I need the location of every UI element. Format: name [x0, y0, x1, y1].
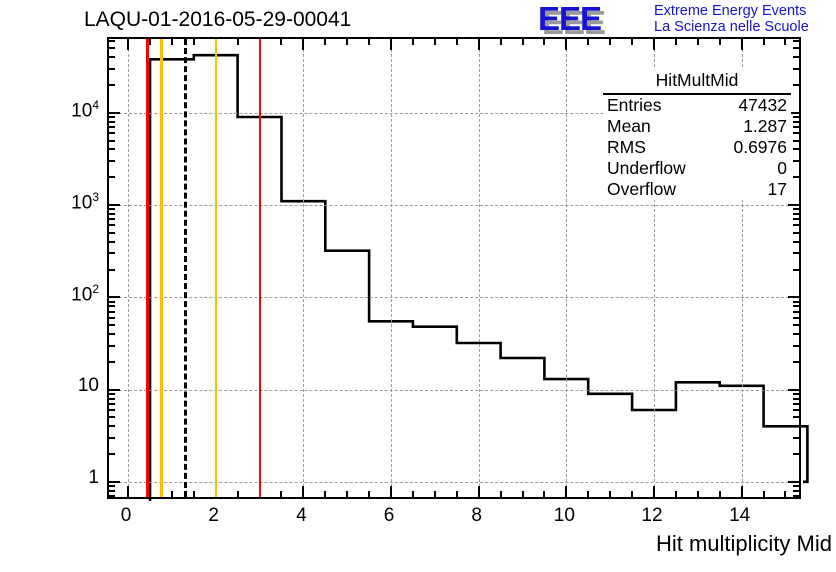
y-tick: [109, 416, 115, 418]
y-tick: [793, 84, 799, 86]
x-tick: [237, 39, 239, 45]
y-tick: [793, 495, 799, 497]
gridline-x-4: [303, 39, 304, 497]
y-tick: [109, 218, 115, 220]
y-tick: [109, 485, 115, 487]
y-tick: [109, 40, 115, 42]
y-tick: [109, 126, 115, 128]
y-axis-label-1000: 103: [71, 190, 99, 214]
y-tick: [793, 437, 799, 439]
x-axis-label-2: 2: [184, 505, 244, 527]
stats-rows: Entries47432Mean1.287RMS0.6976Underflow0…: [603, 95, 791, 200]
y-tick: [109, 311, 115, 313]
y-tick: [109, 495, 115, 497]
y-tick: [793, 416, 799, 418]
stats-row-entries: Entries47432: [603, 95, 791, 116]
y-tick: [793, 425, 799, 427]
x-tick: [522, 491, 524, 497]
y-tick: [109, 389, 120, 391]
gridline-y-1: [109, 482, 799, 483]
x-tick: [390, 39, 392, 50]
x-axis-label-14: 14: [710, 505, 770, 527]
y-tick: [109, 317, 115, 319]
stats-row-label: Entries: [607, 95, 669, 116]
x-axis-label-6: 6: [359, 505, 419, 527]
root-canvas: LAQU-01-2016-05-29-00041 EEE EEE Extreme…: [0, 0, 836, 572]
x-tick: [456, 491, 458, 497]
y-tick: [109, 68, 115, 70]
y-tick: [793, 241, 799, 243]
x-tick: [127, 39, 129, 50]
stats-row-label: RMS: [607, 137, 654, 158]
y-tick: [793, 160, 799, 162]
x-tick: [522, 39, 524, 45]
y-tick: [793, 333, 799, 335]
x-tick: [346, 39, 348, 45]
y-tick: [793, 148, 799, 150]
y-tick: [109, 333, 115, 335]
x-tick: [697, 39, 699, 45]
x-tick: [500, 39, 502, 45]
eee-logo-line2: La Scienza nelle Scuole: [654, 19, 809, 35]
x-tick: [565, 39, 567, 50]
x-tick: [565, 486, 567, 497]
y-tick: [109, 176, 115, 178]
x-axis-title: Hit multiplicity Mid: [656, 531, 832, 557]
y-tick: [793, 398, 799, 400]
stats-row-value: 0.6976: [733, 137, 787, 158]
y-tick: [793, 40, 799, 42]
gridline-x-6: [391, 39, 392, 497]
stats-row-overflow: Overflow17: [603, 179, 791, 200]
gridline-x-8: [479, 39, 480, 497]
y-tick: [788, 389, 799, 391]
gridline-y-100: [109, 297, 799, 298]
y-tick: [109, 269, 115, 271]
x-axis-label-10: 10: [534, 505, 594, 527]
x-tick: [763, 39, 765, 45]
y-tick: [109, 403, 115, 405]
x-tick: [719, 39, 721, 45]
y-tick: [793, 409, 799, 411]
y-tick: [109, 393, 115, 395]
y-tick: [793, 393, 799, 395]
stats-row-mean: Mean1.287: [603, 116, 791, 137]
y-tick: [109, 453, 115, 455]
x-axis-label-0: 0: [96, 505, 156, 527]
x-tick: [171, 491, 173, 497]
gridline-x-10: [566, 39, 567, 497]
y-tick: [109, 224, 115, 226]
x-tick: [675, 491, 677, 497]
x-tick: [675, 39, 677, 45]
stats-row-underflow: Underflow0: [603, 158, 791, 179]
y-tick: [109, 425, 115, 427]
marker-line-orange-left: [160, 39, 163, 497]
marker-line-red-right: [259, 39, 262, 497]
y-tick: [793, 453, 799, 455]
y-tick: [788, 481, 799, 483]
x-tick: [609, 39, 611, 45]
stats-row-label: Mean: [607, 116, 659, 137]
x-tick: [434, 39, 436, 45]
y-tick: [793, 485, 799, 487]
y-tick: [109, 398, 115, 400]
x-tick: [456, 39, 458, 45]
y-tick: [788, 204, 799, 206]
x-tick: [741, 486, 743, 497]
x-tick: [368, 39, 370, 45]
x-tick: [741, 39, 743, 50]
x-tick: [127, 486, 129, 497]
y-tick: [109, 437, 115, 439]
x-tick: [587, 491, 589, 497]
x-tick: [412, 491, 414, 497]
x-tick: [149, 39, 151, 45]
x-tick: [478, 39, 480, 50]
stats-row-value: 1.287: [743, 116, 787, 137]
x-tick: [500, 491, 502, 497]
x-axis-label-8: 8: [447, 505, 507, 527]
eee-logo-line1: Extreme Energy Events: [654, 3, 806, 19]
y-tick: [109, 296, 120, 298]
y-tick: [793, 403, 799, 405]
y-tick: [109, 160, 115, 162]
x-tick: [653, 486, 655, 497]
y-tick: [793, 213, 799, 215]
y-tick: [109, 241, 115, 243]
stats-title: HitMultMid: [603, 69, 791, 95]
y-tick: [793, 140, 799, 142]
y-tick: [109, 361, 115, 363]
x-tick: [237, 491, 239, 497]
x-tick: [368, 491, 370, 497]
x-tick: [784, 491, 786, 497]
x-tick: [697, 491, 699, 497]
x-tick: [324, 39, 326, 45]
x-tick: [149, 491, 151, 497]
marker-line-red-left: [146, 39, 149, 497]
x-tick: [478, 486, 480, 497]
x-tick: [280, 491, 282, 497]
eee-logo-mark-front: EEE: [538, 3, 601, 35]
y-tick: [109, 324, 115, 326]
y-tick: [793, 361, 799, 363]
marker-line-orange-right: [215, 39, 218, 497]
x-tick: [784, 39, 786, 45]
stats-row-value: 0: [777, 158, 787, 179]
y-tick: [793, 126, 799, 128]
x-tick: [763, 491, 765, 497]
y-tick: [793, 324, 799, 326]
x-tick: [609, 491, 611, 497]
x-tick: [302, 39, 304, 50]
y-tick: [793, 311, 799, 313]
y-tick: [109, 47, 115, 49]
y-tick: [109, 148, 115, 150]
y-tick: [109, 121, 115, 123]
y-tick: [793, 232, 799, 234]
y-tick: [109, 252, 115, 254]
stats-box: HitMultMid Entries47432Mean1.287RMS0.697…: [603, 69, 791, 200]
stats-row-value: 47432: [738, 95, 787, 116]
y-axis-label-100: 102: [71, 282, 99, 306]
x-tick: [719, 491, 721, 497]
gridline-y-1000: [109, 205, 799, 206]
y-tick: [793, 208, 799, 210]
x-axis-label-4: 4: [271, 505, 331, 527]
eee-logo-mark: EEE EEE: [538, 2, 648, 34]
y-tick: [793, 116, 799, 118]
y-tick: [793, 132, 799, 134]
marker-line-black-dashed-mean: [184, 39, 187, 497]
y-tick: [109, 409, 115, 411]
y-tick: [109, 301, 115, 303]
stats-row-rms: RMS0.6976: [603, 137, 791, 158]
y-tick: [788, 296, 799, 298]
x-tick: [302, 486, 304, 497]
x-tick: [390, 486, 392, 497]
x-tick: [324, 491, 326, 497]
x-tick: [193, 39, 195, 45]
y-tick: [793, 47, 799, 49]
y-tick: [109, 490, 115, 492]
x-tick: [280, 39, 282, 45]
gridline-x-0: [128, 39, 129, 497]
y-tick: [109, 116, 115, 118]
x-tick: [193, 491, 195, 497]
y-tick: [109, 213, 115, 215]
gridline-y-10: [109, 390, 799, 391]
y-tick: [109, 140, 115, 142]
y-tick: [793, 305, 799, 307]
y-tick: [793, 224, 799, 226]
y-tick: [109, 84, 115, 86]
y-tick: [109, 204, 120, 206]
y-axis-label-10000: 104: [71, 98, 99, 122]
y-tick: [793, 269, 799, 271]
y-axis-label-1: 1: [88, 467, 99, 489]
y-tick: [109, 232, 115, 234]
y-tick: [109, 305, 115, 307]
y-tick: [109, 345, 115, 347]
y-tick: [793, 252, 799, 254]
x-tick: [631, 491, 633, 497]
stats-row-value: 17: [768, 179, 787, 200]
page-title: LAQU-01-2016-05-29-00041: [84, 8, 351, 32]
y-tick: [109, 56, 115, 58]
x-tick: [631, 39, 633, 45]
y-tick: [793, 218, 799, 220]
x-tick: [543, 491, 545, 497]
y-tick: [793, 68, 799, 70]
x-tick: [543, 39, 545, 45]
x-axis-label-12: 12: [622, 505, 682, 527]
y-tick: [109, 132, 115, 134]
y-tick: [793, 317, 799, 319]
y-axis-label-10: 10: [78, 375, 99, 397]
y-tick: [793, 176, 799, 178]
y-tick: [793, 345, 799, 347]
y-tick: [793, 301, 799, 303]
y-tick: [793, 56, 799, 58]
x-tick: [171, 39, 173, 45]
y-tick: [793, 490, 799, 492]
x-tick: [653, 39, 655, 50]
x-tick: [412, 39, 414, 45]
x-tick: [587, 39, 589, 45]
stats-row-label: Overflow: [607, 179, 684, 200]
y-tick: [793, 121, 799, 123]
x-tick: [434, 491, 436, 497]
x-tick: [346, 491, 348, 497]
eee-logo: EEE EEE Extreme Energy Events La Scienza…: [538, 2, 834, 36]
y-tick: [109, 112, 120, 114]
y-tick: [109, 481, 120, 483]
y-tick: [109, 208, 115, 210]
stats-row-label: Underflow: [607, 158, 694, 179]
